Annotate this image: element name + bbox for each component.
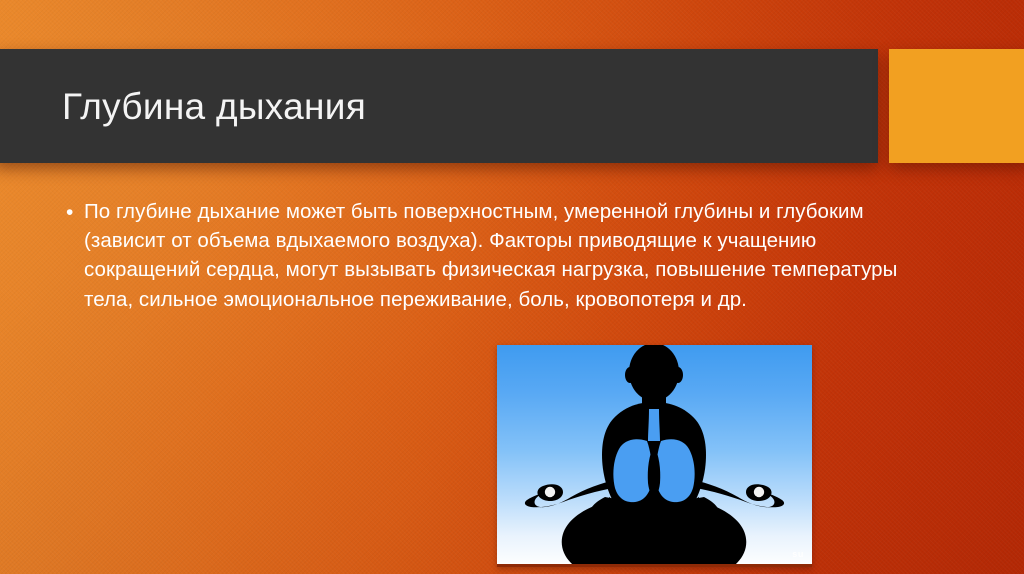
bullet-list-item: • По глубине дыхание может быть поверхно… — [66, 197, 906, 314]
bullet-paragraph-text: По глубине дыхание может быть поверхност… — [84, 197, 906, 314]
meditation-lungs-image: su — [497, 345, 812, 567]
bullet-point-icon: • — [66, 197, 84, 227]
accent-block — [889, 49, 1024, 163]
presentation-slide: Глубина дыхания • По глубине дыхание мож… — [0, 0, 1024, 574]
body-content: • По глубине дыхание может быть поверхно… — [66, 197, 906, 314]
meditating-figure-silhouette-icon — [497, 345, 812, 567]
slide-title: Глубина дыхания — [62, 84, 366, 130]
image-footer-strip — [497, 564, 812, 567]
